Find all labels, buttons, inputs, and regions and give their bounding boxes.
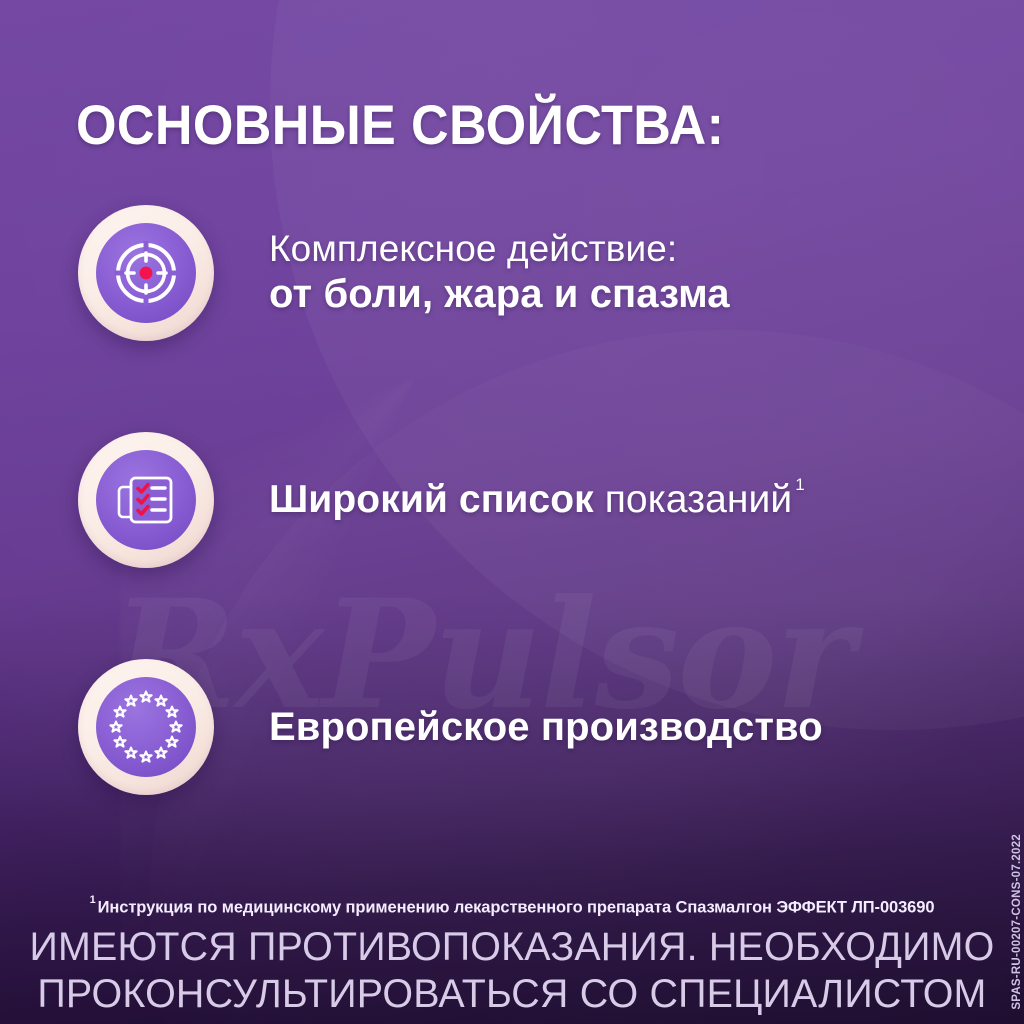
icon-inner-disc	[96, 677, 196, 777]
reference-code: SPAS-RU-00207-CONS-07.2022	[1011, 834, 1023, 1010]
footnote-marker: 1	[90, 894, 96, 906]
warning-line-2: ПРОКОНСУЛЬТИРОВАТЬСЯ СО СПЕЦИАЛИСТОМ	[8, 971, 1017, 1018]
red-checkmarks	[138, 485, 148, 515]
feature-row-complex-action: Комплексное действие: от боли, жара и сп…	[0, 198, 1024, 348]
eu-stars-icon	[107, 688, 185, 766]
feature-line-2: от боли, жара и спазма	[269, 271, 730, 317]
feature-row-european-production: Европейское производство	[0, 652, 1024, 802]
page-title: ОСНОВНЫЕ СВОЙСТВА:	[76, 96, 724, 155]
promo-slide: RxPulsor ОСНОВНЫЕ СВОЙСТВА:	[0, 0, 1024, 1024]
warning-disclaimer: ИМЕЮТСЯ ПРОТИВОПОКАЗАНИЯ. НЕОБХОДИМО ПРО…	[0, 924, 1024, 1018]
icon-inner-disc	[96, 450, 196, 550]
icon-inner-disc	[96, 223, 196, 323]
feature-text-european-production: Европейское производство	[269, 704, 823, 750]
warning-line-1: ИМЕЮТСЯ ПРОТИВОПОКАЗАНИЯ. НЕОБХОДИМО	[8, 924, 1017, 971]
feature-line-1: Европейское производство	[269, 704, 823, 750]
footnote-marker: 1	[795, 475, 805, 494]
checklist-clipboard-icon	[115, 469, 177, 531]
target-center-dot	[140, 267, 153, 280]
feature-row-wide-list: Широкий список показаний1	[0, 425, 1024, 575]
feature-text-complex-action: Комплексное действие: от боли, жара и сп…	[269, 228, 730, 317]
feature-text-wide-list: Широкий список показаний1	[269, 477, 805, 522]
checklist-icon-badge	[71, 425, 221, 575]
footnote: 1Инструкция по медицинскому применению л…	[0, 897, 1024, 918]
footnote-text: Инструкция по медицинскому применению ле…	[98, 899, 935, 917]
feature-line-1: Широкий список показаний1	[269, 477, 805, 522]
feature-regular-part: показаний	[594, 478, 793, 521]
target-icon	[113, 240, 179, 306]
target-icon-badge	[71, 198, 221, 348]
feature-line-1: Комплексное действие:	[269, 228, 730, 271]
eu-icon-badge	[71, 652, 221, 802]
feature-bold-part: Широкий список	[269, 478, 594, 521]
